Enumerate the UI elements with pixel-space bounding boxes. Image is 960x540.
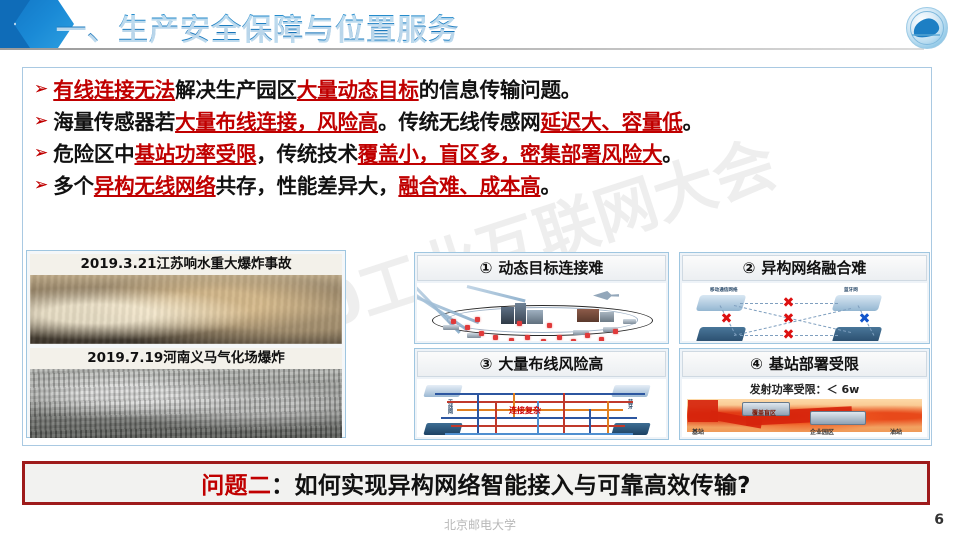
target-dot <box>465 325 470 330</box>
fusion-block-icon: ✖ <box>720 313 733 326</box>
bullet-marker-icon: ➢ <box>34 108 48 135</box>
coverage-gap-label: 覆盖盲区 <box>752 408 776 417</box>
target-dot <box>541 339 546 341</box>
wire <box>607 401 609 433</box>
target-dot <box>571 339 576 341</box>
photo-caption: 2019.3.21江苏响水重大爆炸事故 <box>30 254 342 275</box>
bullet-segment-highlight: 延迟大、容量低 <box>540 110 682 134</box>
target-dot <box>475 317 480 322</box>
slide: 一、生产安全保障与位置服务 2020工业互联网大会 ➢ 有线连接无法解决生产园区… <box>0 0 960 540</box>
slide-header: 一、生产安全保障与位置服务 <box>0 0 960 56</box>
building-decoration <box>527 310 543 324</box>
panel-title-text: 动态目标连接难 <box>498 259 603 277</box>
network-label: 移动通信网络 <box>710 287 738 293</box>
target-dot <box>517 321 522 326</box>
bullet-segment-plain: 。 <box>662 142 682 166</box>
wire <box>477 393 479 433</box>
area-label: 基站 <box>692 427 704 436</box>
plane-icon <box>593 291 619 300</box>
panel-title-text: 大量布线风险高 <box>498 355 603 373</box>
target-dot <box>493 335 498 340</box>
header-divider <box>0 48 924 50</box>
base-station-device-icon <box>810 411 866 425</box>
panel-title: ②异构网络融合难 <box>682 255 927 281</box>
bullet-segment-plain: 海量传感器若 <box>53 110 175 134</box>
panel-heterogeneous-fusion: ②异构网络融合难 移动通信网络 蓝牙网 工业无线网络传感网 WiFi/5G无线网… <box>679 252 930 344</box>
bupt-circular-logo-icon <box>906 7 948 49</box>
target-dot <box>599 337 604 341</box>
bullet-text: 多个异构无线网络共存，性能差异大，融合难、成本高。 <box>53 172 561 201</box>
question-banner-text: 问题二：如何实现异构网络智能接入与可靠高效传输? <box>201 466 751 500</box>
fusion-block-icon: ✖ <box>782 297 795 310</box>
target-dot <box>613 329 618 334</box>
photo-caption: 2019.7.19河南义马气化场爆炸 <box>30 348 342 369</box>
vehicle-decoration <box>623 319 636 324</box>
target-dot <box>525 335 530 340</box>
panel-base-station-limit: ④基站部署受限 发射功率受限：＜ 6w 基站 企业园区 油站 覆盖盲区 <box>679 348 930 440</box>
wire <box>495 401 497 433</box>
bullet-segment-plain: 解决生产园区 <box>175 78 297 102</box>
logo-bar-decoration <box>912 34 940 36</box>
wiring-complexity-label: 连接复杂 <box>509 405 541 416</box>
bullet-segment-plain: 危险区中 <box>53 142 134 166</box>
network-node <box>832 295 883 311</box>
bullet-marker-icon: ➢ <box>34 172 48 199</box>
area-label: 油站 <box>890 427 902 436</box>
dynamic-target-connection-diagram <box>417 283 666 341</box>
bullet-segment-highlight: 大量动态目标 <box>297 78 419 102</box>
panel-title: ③大量布线风险高 <box>417 351 666 377</box>
panel-number: ③ <box>480 355 493 373</box>
bullet-item: ➢ 海量传感器若大量布线连接，风险高。传统无线传感网延迟大、容量低。 <box>34 108 924 137</box>
accident-photo-card: 2019.7.19河南义马气化场爆炸 <box>30 348 342 438</box>
bullet-marker-icon: ➢ <box>34 76 48 103</box>
bullet-segment-highlight: 融合难、成本高 <box>398 174 540 198</box>
bullet-segment-plain: 的信息传输问题。 <box>419 78 581 102</box>
bullet-item: ➢ 危险区中基站功率受限，传统技术覆盖小，盲区多，密集部署风险大。 <box>34 140 924 169</box>
target-dot <box>557 335 562 340</box>
wire <box>563 393 565 433</box>
bullet-segment-highlight: 覆盖小，盲区多，密集部署风险大 <box>358 142 663 166</box>
target-dot <box>509 338 514 341</box>
network-label: 蓝牙网 <box>844 287 858 293</box>
panel-number: ④ <box>750 355 763 373</box>
panel-dynamic-target-connection: ①动态目标连接难 <box>414 252 669 344</box>
question-key: 问题二 <box>201 473 271 499</box>
bullet-segment-plain: 。 <box>683 110 703 134</box>
bullet-list: ➢ 有线连接无法解决生产园区大量动态目标的信息传输问题。 ➢ 海量传感器若大量布… <box>34 76 924 204</box>
fusion-block-icon: ✖ <box>858 313 871 326</box>
network-node <box>611 385 650 397</box>
bullet-segment-highlight: 大量布线连接，风险高 <box>175 110 378 134</box>
bullet-item: ➢ 有线连接无法解决生产园区大量动态目标的信息传输问题。 <box>34 76 924 105</box>
heterogeneous-network-fusion-diagram: 移动通信网络 蓝牙网 工业无线网络传感网 WiFi/5G无线网络 ✖ ✖ ✖ ✖… <box>682 283 927 341</box>
massive-wiring-risk-diagram: 无线网 蓝牙 连接复杂 移动通信网 传感器网 <box>417 379 666 437</box>
target-dot <box>547 323 552 328</box>
building-decoration <box>577 309 599 322</box>
panel-title: ④基站部署受限 <box>682 351 927 377</box>
bullet-text: 危险区中基站功率受限，传统技术覆盖小，盲区多，密集部署风险大。 <box>53 140 682 169</box>
wire <box>435 393 645 395</box>
target-dot <box>479 331 484 336</box>
building-decoration <box>600 312 614 322</box>
network-node <box>423 385 462 397</box>
bullet-item: ➢ 多个异构无线网络共存，性能差异大，融合难、成本高。 <box>34 172 924 201</box>
accident-photo-card: 2019.3.21江苏响水重大爆炸事故 <box>30 254 342 344</box>
wire <box>589 409 591 433</box>
question-banner: 问题二：如何实现异构网络智能接入与可靠高效传输? <box>22 461 930 505</box>
page-number: 6 <box>934 512 944 528</box>
wire <box>445 433 633 435</box>
gasification-plant-explosion-photo <box>30 366 342 438</box>
panel-title: ①动态目标连接难 <box>417 255 666 281</box>
building-decoration <box>501 307 514 324</box>
bullet-segment-plain: 多个 <box>53 174 94 198</box>
power-limit-label: 发射功率受限：＜ 6w <box>682 381 927 397</box>
accident-photo-column: 2019.3.21江苏响水重大爆炸事故 2019.7.19河南义马气化场爆炸 <box>26 250 346 438</box>
bullet-text: 有线连接无法解决生产园区大量动态目标的信息传输问题。 <box>53 76 581 105</box>
bullet-segment-plain: 。 <box>540 174 560 198</box>
bullet-segment-plain: ，传统技术 <box>256 142 358 166</box>
target-dot <box>451 319 456 324</box>
panel-title-text: 基站部署受限 <box>769 355 859 373</box>
panel-number: ① <box>480 259 493 277</box>
wire <box>447 401 633 403</box>
beam-decoration <box>467 285 526 302</box>
panel-number: ② <box>743 259 756 277</box>
page-title: 一、生产安全保障与位置服务 <box>56 5 459 49</box>
bullet-segment-highlight: 基站功率受限 <box>134 142 256 166</box>
target-dot <box>585 333 590 338</box>
bullet-segment-highlight: 有线连接无法 <box>53 78 175 102</box>
fusion-block-icon: ✖ <box>782 313 795 326</box>
base-station-deployment-limit-diagram: 发射功率受限：＜ 6w 基站 企业园区 油站 覆盖盲区 <box>682 379 927 437</box>
question-body: 如何实现异构网络智能接入与可靠高效传输? <box>294 473 750 499</box>
bullet-text: 海量传感器若大量布线连接，风险高。传统无线传感网延迟大、容量低。 <box>53 108 703 137</box>
panel-title-text: 异构网络融合难 <box>761 259 866 277</box>
panel-massive-wiring-risk: ③大量布线风险高 无线网 蓝牙 连接复杂 移动通信网 传感器网 <box>414 348 669 440</box>
bullet-marker-icon: ➢ <box>34 140 48 167</box>
area-label: 企业园区 <box>810 427 834 436</box>
footer-organization: 北京邮电大学 <box>0 516 960 533</box>
vehicle-decoration <box>443 325 459 330</box>
explosion-aftermath-photo <box>30 272 342 344</box>
question-separator: ： <box>271 473 294 499</box>
fusion-block-icon: ✖ <box>782 329 795 341</box>
bullet-segment-plain: 共存，性能差异大， <box>216 174 399 198</box>
bullet-segment-plain: 。传统无线传感网 <box>378 110 540 134</box>
bullet-segment-highlight: 异构无线网络 <box>94 174 216 198</box>
